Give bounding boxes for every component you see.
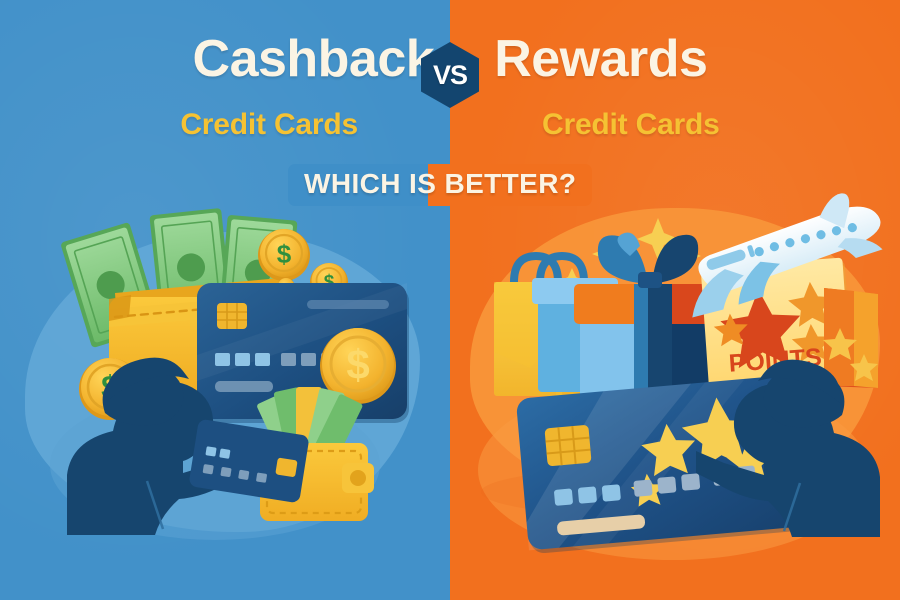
banner-label: WHICH IS BETTER? <box>304 168 576 199</box>
subheadline-right: Credit Cards <box>542 110 720 140</box>
infographic-canvas: $ $ $ <box>0 0 900 600</box>
subheadline-left: Credit Cards <box>180 110 358 140</box>
subheadline-row: Credit Cards Credit Cards <box>0 104 900 146</box>
rewards-illustration: POINTS <box>462 192 892 537</box>
cashback-illustration: $ $ $ <box>55 205 450 535</box>
headline-left-word: Cashback <box>193 33 435 85</box>
which-is-better-banner: WHICH IS BETTER? <box>288 164 592 206</box>
headline-right-word: Rewards <box>494 33 707 85</box>
vs-badge: VS <box>421 42 479 108</box>
svg-text:$: $ <box>277 239 292 269</box>
gift-box-icon <box>823 288 878 388</box>
svg-text:$: $ <box>346 341 369 388</box>
vs-label: VS <box>433 60 467 91</box>
